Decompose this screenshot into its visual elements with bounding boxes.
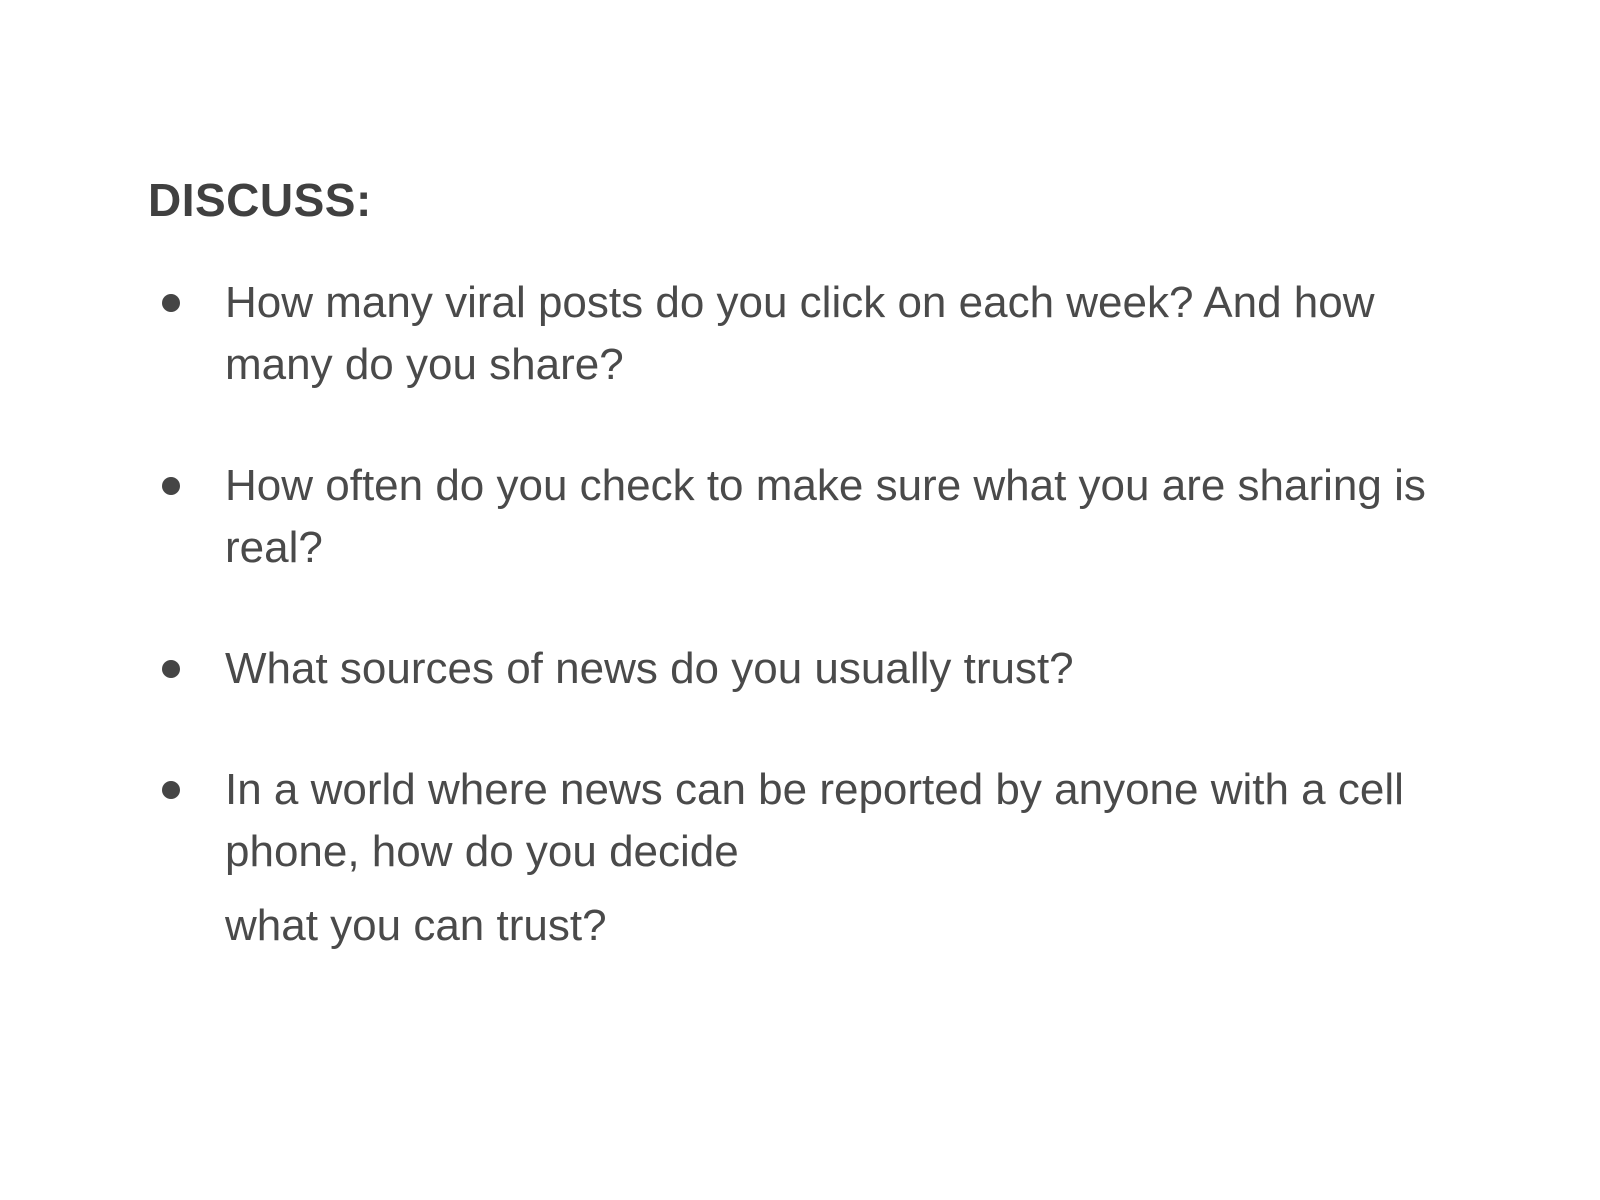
filled-circle-bullet-icon (162, 477, 180, 495)
list-item-text: What sources of news do you usually trus… (225, 638, 1468, 700)
list-item: What sources of news do you usually trus… (148, 638, 1468, 700)
list-item-text-trailing: what you can trust? (225, 895, 1468, 957)
list-item-text: How often do you check to make sure what… (225, 455, 1468, 579)
page-title: DISCUSS: (148, 175, 372, 226)
list-item: In a world where news can be reported by… (148, 759, 1468, 957)
filled-circle-bullet-icon (162, 781, 180, 799)
list-item-text: In a world where news can be reported by… (225, 759, 1468, 957)
discussion-question-list: How many viral posts do you click on eac… (148, 272, 1468, 957)
list-item-text-main: In a world where news can be reported by… (225, 765, 1404, 876)
list-item: How often do you check to make sure what… (148, 455, 1468, 579)
filled-circle-bullet-icon (162, 294, 180, 312)
filled-circle-bullet-icon (162, 660, 180, 678)
list-item-text: How many viral posts do you click on eac… (225, 272, 1468, 396)
slide-canvas: DISCUSS: How many viral posts do you cli… (0, 0, 1600, 1200)
list-item: How many viral posts do you click on eac… (148, 272, 1468, 396)
